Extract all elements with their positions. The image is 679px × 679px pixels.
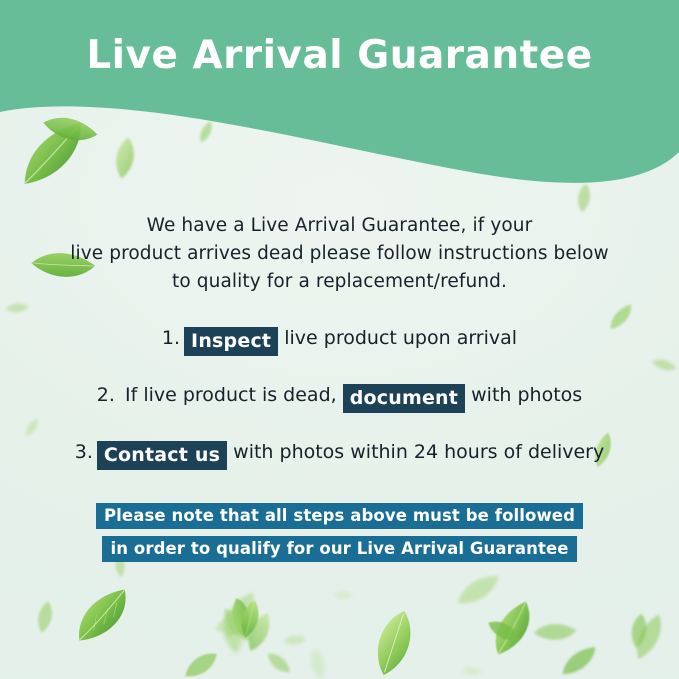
step-number: 1. bbox=[162, 327, 180, 349]
notice-row-1: Please note that all steps above must be… bbox=[0, 503, 679, 529]
step-text-before: If live product is dead, bbox=[125, 384, 337, 406]
step-highlight-contact-us: Contact us bbox=[97, 441, 227, 470]
step-highlight-document: document bbox=[343, 384, 465, 413]
intro-paragraph: We have a Live Arrival Guarantee, if you… bbox=[60, 212, 619, 296]
step-item-2: 2. If live product is dead, document wit… bbox=[0, 377, 679, 413]
intro-line-1: We have a Live Arrival Guarantee, if you… bbox=[60, 212, 619, 240]
step-number: 3. bbox=[75, 441, 93, 463]
step-item-1: 1.Inspect live product upon arrival bbox=[0, 320, 679, 356]
notice-bar-line-1: Please note that all steps above must be… bbox=[96, 503, 583, 529]
step-item-3: 3.Contact us with photos within 24 hours… bbox=[0, 434, 679, 470]
step-number: 2. bbox=[97, 384, 115, 406]
step-text: live product upon arrival bbox=[284, 327, 517, 349]
live-arrival-guarantee-card: Live Arrival Guarantee We have a Live Ar… bbox=[0, 0, 679, 679]
content-area: We have a Live Arrival Guarantee, if you… bbox=[0, 0, 679, 679]
step-highlight-inspect: Inspect bbox=[184, 327, 278, 356]
notice-row-2: in order to qualify for our Live Arrival… bbox=[0, 536, 679, 562]
step-text: with photos within 24 hours of delivery bbox=[233, 441, 604, 463]
steps-list: 1.Inspect live product upon arrival 2. I… bbox=[0, 320, 679, 491]
intro-line-2: live product arrives dead please follow … bbox=[60, 240, 619, 268]
notice-bar-line-2: in order to qualify for our Live Arrival… bbox=[102, 536, 576, 562]
intro-line-3: to quality for a replacement/refund. bbox=[60, 268, 619, 296]
step-text: with photos bbox=[471, 384, 582, 406]
